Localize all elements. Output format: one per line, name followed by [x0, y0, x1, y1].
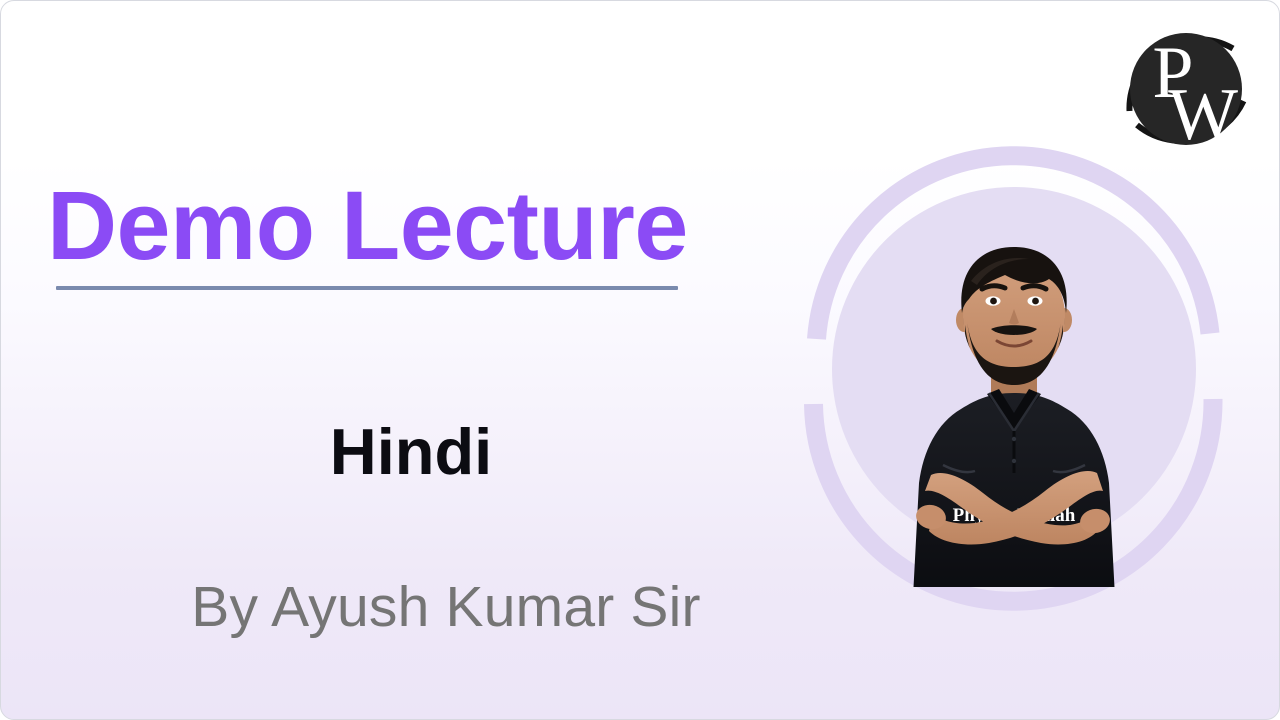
pw-logo[interactable]: P W	[1107, 15, 1265, 163]
page-title: Demo Lecture	[47, 177, 688, 274]
presenter-circle-group: Physics Wallah	[806, 161, 1222, 577]
presenter-photo-clip: Physics Wallah	[832, 187, 1196, 587]
title-underline-rule	[56, 286, 678, 290]
presenter-photo: Physics Wallah	[879, 225, 1149, 587]
demo-lecture-slide: Physics Wallah	[0, 0, 1280, 720]
language-subtitle: Hindi	[1, 419, 821, 484]
pw-logo-letter-w: W	[1168, 74, 1238, 156]
presenter-byline: By Ayush Kumar Sir	[1, 579, 891, 636]
